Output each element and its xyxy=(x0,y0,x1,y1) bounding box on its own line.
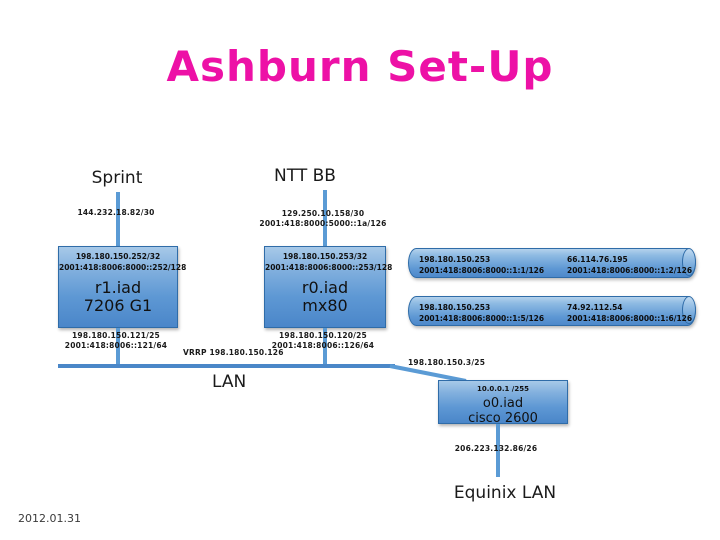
link-label-sprint-ipv4: 144.232.18.82/30 xyxy=(46,208,186,218)
link-label-r1-lan-ipv4: 198.180.150.121/25 xyxy=(46,331,186,341)
node-o0-ipv4: 10.0.0.1 /255 xyxy=(439,385,567,395)
node-o0-name: o0.iad xyxy=(439,397,567,412)
peering-2-remote-ipv6: 2001:418:8006:8000::1:6/126 xyxy=(567,313,692,324)
provider-label-ntt: NTT BB xyxy=(225,166,385,186)
slide-canvas: Ashburn Set-Up Sprint NTT BB Equinix LAN… xyxy=(0,0,720,540)
lan-bus-bar xyxy=(58,364,395,368)
link-label-ntt-ipv6: 2001:418:8000:5000::1a/126 xyxy=(253,219,393,229)
peering-1-local-ipv6: 2001:418:8006:8000::1:1/126 xyxy=(419,265,544,276)
node-r1-name: r1.iad xyxy=(59,279,177,297)
node-r0-ipv6: 2001:418:8006:8000::253/128 xyxy=(265,263,385,274)
peering-2-local-ipv6: 2001:418:8006:8000::1:5/126 xyxy=(419,313,544,324)
link-label-r1-lan-ipv6: 2001:418:8006::121/64 xyxy=(46,341,186,351)
link-label-equinix-ipv4: 206.223.132.86/26 xyxy=(426,444,566,454)
peering-2-remote-ipv4: 74.92.112.54 xyxy=(567,302,623,313)
lan-caption: LAN xyxy=(212,372,246,392)
link-label-ntt-ipv4: 129.250.10.158/30 xyxy=(253,209,393,219)
peering-2-local-ipv4: 198.180.150.253 xyxy=(419,302,490,313)
node-o0-iad[interactable]: 10.0.0.1 /255 o0.iad cisco 2600 xyxy=(438,380,568,424)
node-o0-model: cisco 2600 xyxy=(439,412,567,427)
peering-1-local-ipv4: 198.180.150.253 xyxy=(419,254,490,265)
peering-cylinder-1[interactable]: 198.180.150.253 2001:418:8006:8000::1:1/… xyxy=(408,248,696,278)
link-sprint-to-r1 xyxy=(116,192,120,247)
node-r0-ipv4: 198.180.150.253/32 xyxy=(265,252,385,263)
node-r0-name: r0.iad xyxy=(265,279,385,297)
node-r1-iad[interactable]: 198.180.150.252/32 2001:418:8006:8000::2… xyxy=(58,246,178,328)
footer-date: 2012.01.31 xyxy=(18,512,81,525)
link-label-o0-lan-ipv4: 198.180.150.3/25 xyxy=(408,358,485,368)
peering-1-remote-ipv6: 2001:418:8006:8000::1:2/126 xyxy=(567,265,692,276)
page-title: Ashburn Set-Up xyxy=(0,42,720,91)
node-r0-iad[interactable]: 198.180.150.253/32 2001:418:8006:8000::2… xyxy=(264,246,386,328)
node-r1-ipv6: 2001:418:8006:8000::252/128 xyxy=(59,263,177,274)
provider-label-equinix: Equinix LAN xyxy=(405,483,605,503)
node-r1-ipv4: 198.180.150.252/32 xyxy=(59,252,177,263)
peering-1-remote-ipv4: 66.114.76.195 xyxy=(567,254,628,265)
vrrp-label: VRRP 198.180.150.126 xyxy=(183,348,284,358)
node-r0-model: mx80 xyxy=(265,297,385,315)
node-r1-model: 7206 G1 xyxy=(59,297,177,315)
link-label-r0-lan-ipv4: 198.180.150.120/25 xyxy=(253,331,393,341)
provider-label-sprint: Sprint xyxy=(52,168,182,188)
peering-cylinder-2[interactable]: 198.180.150.253 2001:418:8006:8000::1:5/… xyxy=(408,296,696,326)
